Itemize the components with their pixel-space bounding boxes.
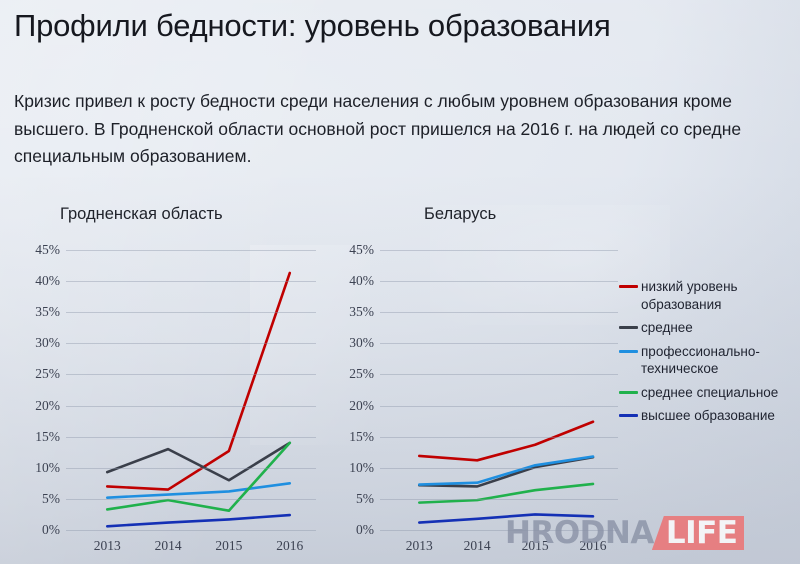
gridline: [66, 312, 316, 313]
series-lines: [66, 250, 316, 530]
chart-title: Беларусь: [424, 205, 496, 224]
y-axis-tick-label: 25%: [35, 366, 60, 382]
gridline: [380, 468, 618, 469]
gridline: [66, 468, 316, 469]
legend-color-swatch: [619, 414, 638, 417]
watermark-name: HRODNA: [505, 516, 654, 550]
y-axis-tick-label: 5%: [356, 491, 374, 507]
gridline: [66, 250, 316, 251]
legend-item[interactable]: высшее образование: [619, 407, 797, 425]
gridline: [380, 437, 618, 438]
watermark-life-badge: LIFE: [652, 516, 745, 550]
y-axis-tick-label: 0%: [42, 522, 60, 538]
series-line: [107, 483, 290, 497]
series-lines: [380, 250, 618, 530]
x-axis-tick-label: 2014: [155, 538, 182, 554]
y-axis-tick-label: 20%: [35, 398, 60, 414]
legend-item-label: высшее образование: [641, 407, 775, 425]
chart-title: Гродненская область: [60, 205, 223, 224]
y-axis-tick-label: 10%: [349, 460, 374, 476]
legend-item[interactable]: среднее: [619, 319, 797, 337]
gridline: [380, 374, 618, 375]
y-axis-tick-label: 45%: [349, 242, 374, 258]
legend-color-swatch: [619, 326, 638, 329]
legend-item-label: среднее: [641, 319, 693, 337]
legend-item-label: среднее специальное: [641, 384, 778, 402]
watermark-suffix: LIFE: [666, 515, 738, 551]
series-line: [107, 273, 290, 490]
y-axis-tick-label: 35%: [349, 304, 374, 320]
y-axis-tick-label: 35%: [35, 304, 60, 320]
series-line: [107, 515, 290, 526]
gridline: [380, 406, 618, 407]
y-axis-tick-label: 30%: [35, 335, 60, 351]
legend-item[interactable]: профессионально-техническое: [619, 343, 797, 378]
page-title: Профили бедности: уровень образования: [14, 8, 611, 44]
legend-color-swatch: [619, 350, 638, 353]
gridline: [66, 406, 316, 407]
x-axis-tick-label: 2013: [94, 538, 121, 554]
legend-item[interactable]: среднее специальное: [619, 384, 797, 402]
y-axis-tick-label: 20%: [349, 398, 374, 414]
watermark-hrodna-life: HRODNA LIFE: [505, 516, 744, 550]
y-axis-tick-label: 15%: [349, 429, 374, 445]
plot-area: 0%5%10%15%20%25%30%35%40%45%201320142015…: [380, 250, 618, 530]
y-axis-tick-label: 10%: [35, 460, 60, 476]
x-axis-tick-label: 2016: [276, 538, 303, 554]
gridline: [380, 499, 618, 500]
legend-item[interactable]: низкий уровень образования: [619, 278, 797, 313]
gridline: [380, 250, 618, 251]
gridline: [66, 437, 316, 438]
series-line: [107, 443, 290, 511]
gridline: [380, 343, 618, 344]
y-axis-tick-label: 5%: [42, 491, 60, 507]
y-axis-tick-label: 30%: [349, 335, 374, 351]
y-axis-tick-label: 45%: [35, 242, 60, 258]
gridline: [66, 281, 316, 282]
y-axis-tick-label: 0%: [356, 522, 374, 538]
legend-item-label: профессионально-техническое: [641, 343, 793, 378]
x-axis-tick-label: 2014: [464, 538, 491, 554]
series-line: [419, 457, 593, 485]
y-axis-tick-label: 40%: [349, 273, 374, 289]
gridline: [380, 312, 618, 313]
gridline: [66, 343, 316, 344]
x-axis-tick-label: 2013: [406, 538, 433, 554]
plot-area: 0%5%10%15%20%25%30%35%40%45%201320142015…: [66, 250, 316, 530]
chart-legend: низкий уровень образованиясреднеепрофесс…: [619, 278, 797, 431]
y-axis-tick-label: 15%: [35, 429, 60, 445]
gridline: [66, 530, 316, 531]
y-axis-tick-label: 25%: [349, 366, 374, 382]
gridline: [66, 374, 316, 375]
legend-item-label: низкий уровень образования: [641, 278, 793, 313]
legend-color-swatch: [619, 391, 638, 394]
gridline: [66, 499, 316, 500]
x-axis-tick-label: 2015: [215, 538, 242, 554]
legend-color-swatch: [619, 285, 638, 288]
gridline: [380, 281, 618, 282]
series-line: [419, 422, 593, 461]
slide-body-text: Кризис привел к росту бедности среди нас…: [14, 88, 789, 171]
y-axis-tick-label: 40%: [35, 273, 60, 289]
